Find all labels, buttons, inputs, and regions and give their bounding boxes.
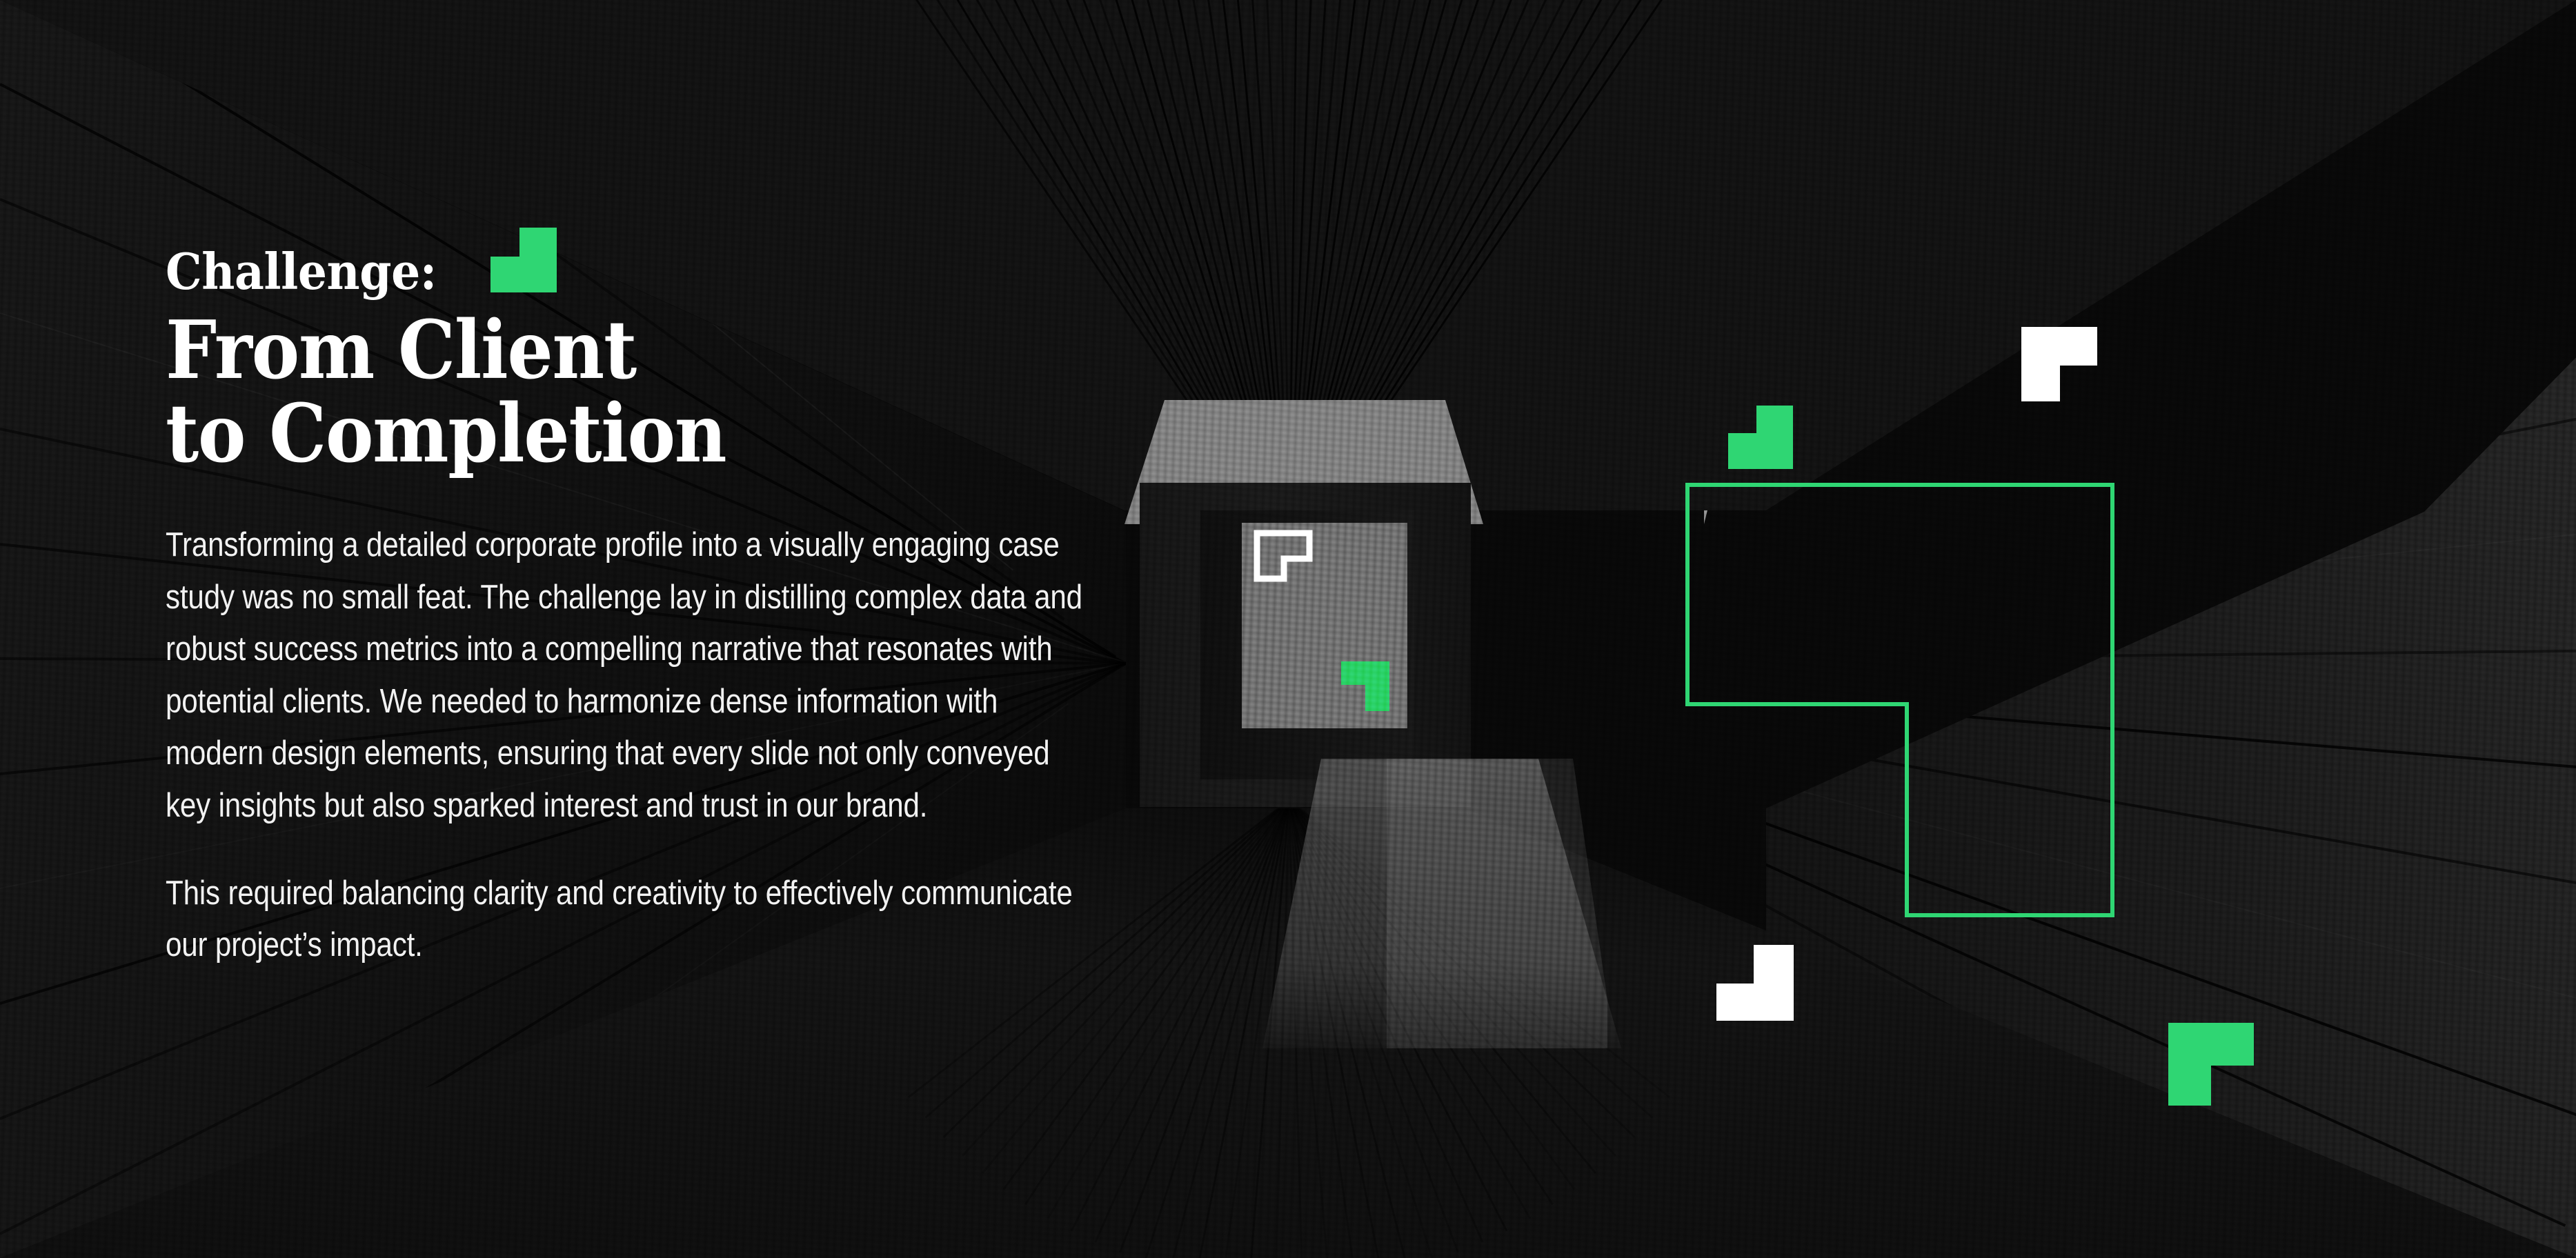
body-copy: Transforming a detailed corporate profil… <box>166 519 1085 972</box>
white-notch-block-upper-right-icon <box>2021 327 2097 401</box>
paragraph-1: Transforming a detailed corporate profil… <box>166 519 1085 832</box>
doorway-green-step-block-icon <box>1341 661 1389 711</box>
slide-root: Challenge: From Client to Completion Tra… <box>0 0 2576 1258</box>
green-step-block-upper-right-icon <box>1728 406 1793 469</box>
white-step-block-lower-icon <box>1716 945 1794 1021</box>
green-notch-block-lower-right-icon <box>2168 1023 2254 1106</box>
kicker-label: Challenge: <box>166 247 437 297</box>
kicker-row: Challenge: <box>166 228 1090 297</box>
text-content-block: Challenge: From Client to Completion Tra… <box>166 228 1090 972</box>
floor-light-pool-core <box>1387 759 1607 1048</box>
doorway-white-outline-notch-icon <box>1254 530 1313 582</box>
green-step-block-kicker-icon <box>491 228 557 292</box>
paragraph-2: This required balancing clarity and crea… <box>166 868 1085 972</box>
page-title: From Client to Completion <box>166 309 998 475</box>
